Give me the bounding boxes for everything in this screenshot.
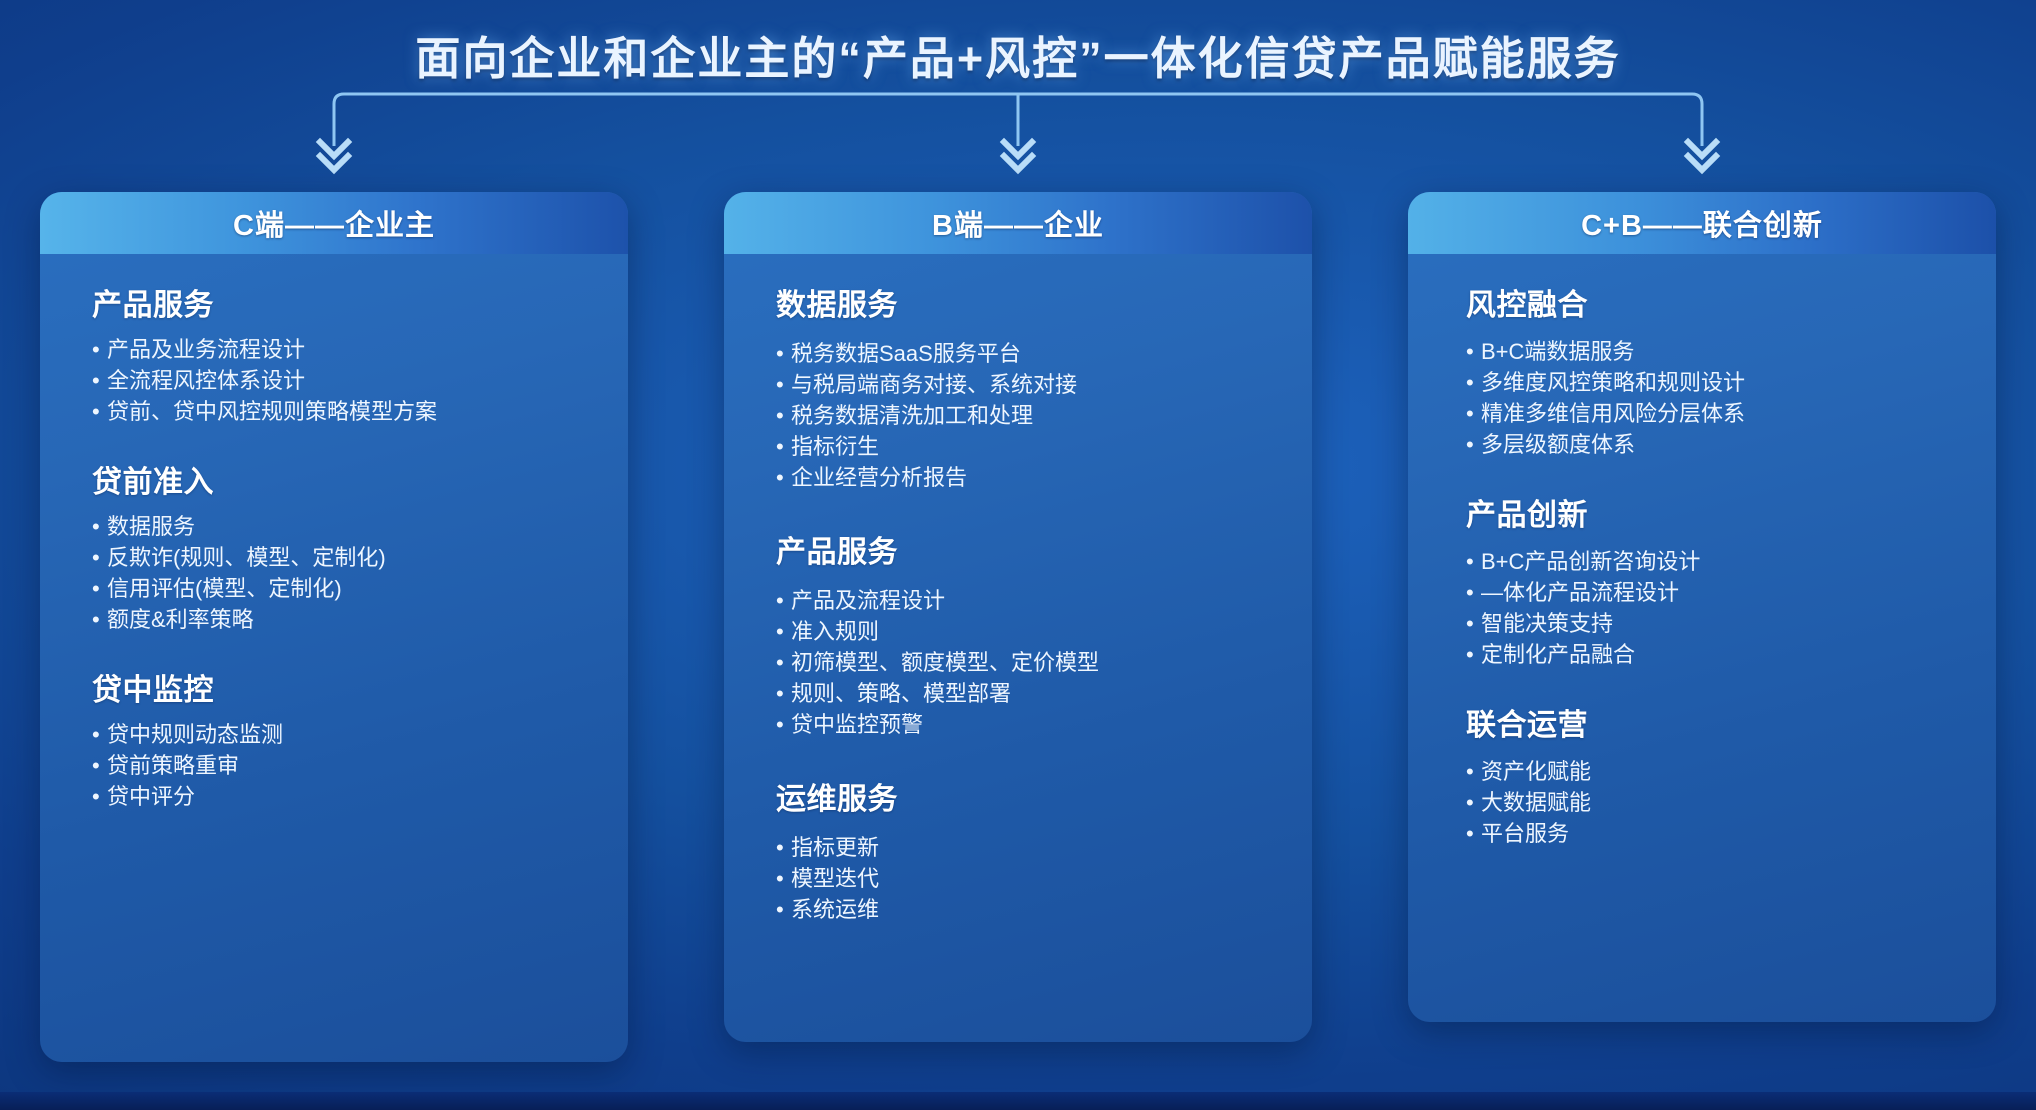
list-item: 数据服务 [92,511,628,542]
group-product-service: 产品服务 产品及业务流程设计 全流程风控体系设计 贷前、贷中风控规则策略模型方案 [92,280,628,427]
group-product-innovation: 产品创新 B+C产品创新咨询设计 —体化产品流程设计 智能决策支持 定制化产品融… [1466,490,1996,670]
list-item: 指标衍生 [776,431,1312,462]
card-body-c-end: 产品服务 产品及业务流程设计 全流程风控体系设计 贷前、贷中风控规则策略模型方案… [40,254,628,812]
list-item: 产品及流程设计 [776,585,1312,616]
list-item: 模型迭代 [776,863,1312,894]
group-title: 产品创新 [1466,490,1996,534]
bullet-list: 产品及流程设计 准入规则 初筛模型、额度模型、定价模型 规则、策略、模型部署 贷… [776,585,1312,740]
list-item: 初筛模型、额度模型、定价模型 [776,647,1312,678]
list-item: 企业经营分析报告 [776,462,1312,493]
list-item: B+C产品创新咨询设计 [1466,546,1996,577]
group-risk-fusion: 风控融合 B+C端数据服务 多维度风控策略和规则设计 精准多维信用风险分层体系 … [1466,280,1996,460]
page-title: 面向企业和企业主的“产品+风控”一体化信贷产品赋能服务 [415,22,1620,87]
list-item: 资产化赋能 [1466,756,1996,787]
group-pre-loan-access: 贷前准入 数据服务 反欺诈(规则、模型、定制化) 信用评估(模型、定制化) 额度… [92,457,628,635]
card-header-c-end: C端——企业主 [40,192,628,254]
list-item: 贷中规则动态监测 [92,719,628,750]
list-item: 多层级额度体系 [1466,429,1996,460]
bullet-list: B+C端数据服务 多维度风控策略和规则设计 精准多维信用风险分层体系 多层级额度… [1466,336,1996,460]
double-chevron-down-icon [320,142,1716,170]
list-item: 系统运维 [776,894,1312,925]
bullet-list: 指标更新 模型迭代 系统运维 [776,832,1312,925]
list-item: 产品及业务流程设计 [92,334,628,365]
card-b-end[interactable]: B端——企业 数据服务 税务数据SaaS服务平台 与税局端商务对接、系统对接 税… [724,192,1312,1042]
list-item: 精准多维信用风险分层体系 [1466,398,1996,429]
bullet-list: B+C产品创新咨询设计 —体化产品流程设计 智能决策支持 定制化产品融合 [1466,546,1996,670]
card-header-c-plus-b: C+B——联合创新 [1408,192,1996,254]
card-row: C端——企业主 产品服务 产品及业务流程设计 全流程风控体系设计 贷前、贷中风控… [40,192,1996,1062]
list-item: 大数据赋能 [1466,787,1996,818]
group-joint-operation: 联合运营 资产化赋能 大数据赋能 平台服务 [1466,700,1996,849]
list-item: 税务数据清洗加工和处理 [776,400,1312,431]
group-title: 风控融合 [1466,280,1996,324]
group-data-service: 数据服务 税务数据SaaS服务平台 与税局端商务对接、系统对接 税务数据清洗加工… [776,280,1312,493]
title-container: 面向企业和企业主的“产品+风控”一体化信贷产品赋能服务 [0,22,2036,87]
slide-root: 面向企业和企业主的“产品+风控”一体化信贷产品赋能服务 C端——企业主 产品服务 [0,0,2036,1110]
group-title: 数据服务 [776,280,1312,324]
list-item: 平台服务 [1466,818,1996,849]
group-title: 产品服务 [92,280,628,324]
list-item: 指标更新 [776,832,1312,863]
card-c-plus-b[interactable]: C+B——联合创新 风控融合 B+C端数据服务 多维度风控策略和规则设计 精准多… [1408,192,1996,1022]
card-body-b-end: 数据服务 税务数据SaaS服务平台 与税局端商务对接、系统对接 税务数据清洗加工… [724,254,1312,925]
group-title: 贷中监控 [92,665,628,709]
group-title: 运维服务 [776,774,1312,818]
bullet-list: 数据服务 反欺诈(规则、模型、定制化) 信用评估(模型、定制化) 额度&利率策略 [92,511,628,635]
card-header-b-end: B端——企业 [724,192,1312,254]
group-product-service: 产品服务 产品及流程设计 准入规则 初筛模型、额度模型、定价模型 规则、策略、模… [776,527,1312,740]
list-item: 多维度风控策略和规则设计 [1466,367,1996,398]
list-item: —体化产品流程设计 [1466,577,1996,608]
group-title: 联合运营 [1466,700,1996,744]
list-item: 贷前策略重审 [92,750,628,781]
bullet-list: 税务数据SaaS服务平台 与税局端商务对接、系统对接 税务数据清洗加工和处理 指… [776,338,1312,493]
bullet-list: 贷中规则动态监测 贷前策略重审 贷中评分 [92,719,628,812]
bullet-list: 产品及业务流程设计 全流程风控体系设计 贷前、贷中风控规则策略模型方案 [92,334,628,427]
group-title: 贷前准入 [92,457,628,501]
connector-bracket [0,88,2036,178]
card-body-c-plus-b: 风控融合 B+C端数据服务 多维度风控策略和规则设计 精准多维信用风险分层体系 … [1408,254,1996,849]
list-item: 准入规则 [776,616,1312,647]
list-item: 贷中监控预警 [776,709,1312,740]
list-item: 定制化产品融合 [1466,639,1996,670]
list-item: 反欺诈(规则、模型、定制化) [92,542,628,573]
list-item: 额度&利率策略 [92,604,628,635]
list-item: 贷中评分 [92,781,628,812]
list-item: 智能决策支持 [1466,608,1996,639]
group-in-loan-monitoring: 贷中监控 贷中规则动态监测 贷前策略重审 贷中评分 [92,665,628,812]
bullet-list: 资产化赋能 大数据赋能 平台服务 [1466,756,1996,849]
list-item: 规则、策略、模型部署 [776,678,1312,709]
group-ops-service: 运维服务 指标更新 模型迭代 系统运维 [776,774,1312,925]
list-item: 全流程风控体系设计 [92,365,628,396]
list-item: B+C端数据服务 [1466,336,1996,367]
list-item: 与税局端商务对接、系统对接 [776,369,1312,400]
card-c-end[interactable]: C端——企业主 产品服务 产品及业务流程设计 全流程风控体系设计 贷前、贷中风控… [40,192,628,1062]
group-title: 产品服务 [776,527,1312,571]
list-item: 税务数据SaaS服务平台 [776,338,1312,369]
list-item: 贷前、贷中风控规则策略模型方案 [92,396,628,427]
list-item: 信用评估(模型、定制化) [92,573,628,604]
